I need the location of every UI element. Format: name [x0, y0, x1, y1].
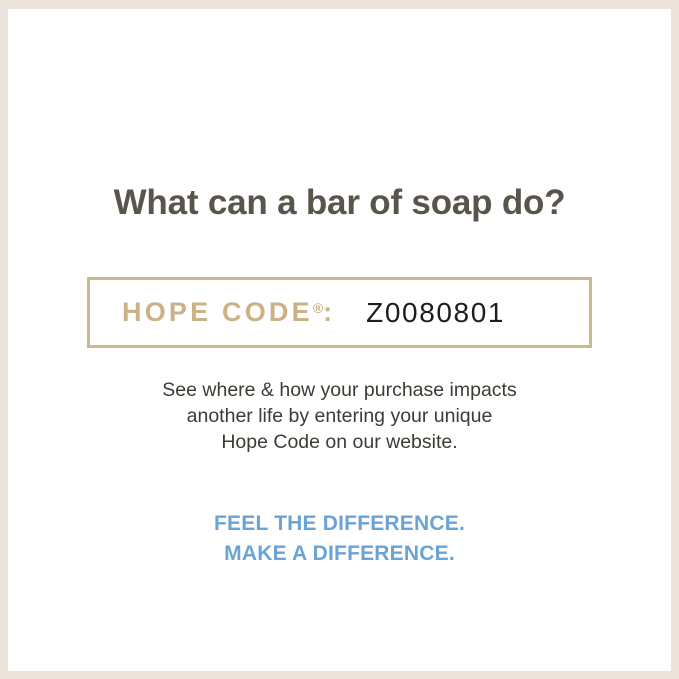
tagline-line: MAKE A DIFFERENCE.	[8, 539, 671, 569]
hope-code-box: HOPE CODE®: Z0080801	[87, 277, 592, 348]
body-copy-line: See where & how your purchase impacts	[8, 377, 671, 403]
page-title: What can a bar of soap do?	[8, 184, 671, 223]
product-card: What can a bar of soap do? HOPE CODE®: Z…	[8, 9, 671, 671]
registered-trademark-icon: ®	[313, 300, 323, 316]
body-copy-line: Hope Code on our website.	[8, 429, 671, 455]
hope-code-label: HOPE CODE®:	[122, 297, 332, 328]
tagline-line: FEEL THE DIFFERENCE.	[8, 509, 671, 539]
outer-frame: What can a bar of soap do? HOPE CODE®: Z…	[0, 0, 679, 679]
card-content: What can a bar of soap do? HOPE CODE®: Z…	[8, 9, 671, 671]
tagline: FEEL THE DIFFERENCE. MAKE A DIFFERENCE.	[8, 509, 671, 569]
hope-code-value: Z0080801	[366, 297, 505, 329]
body-copy: See where & how your purchase impacts an…	[8, 377, 671, 455]
body-copy-line: another life by entering your unique	[8, 403, 671, 429]
hope-code-colon: :	[323, 297, 332, 328]
hope-code-label-text: HOPE CODE	[122, 297, 313, 328]
